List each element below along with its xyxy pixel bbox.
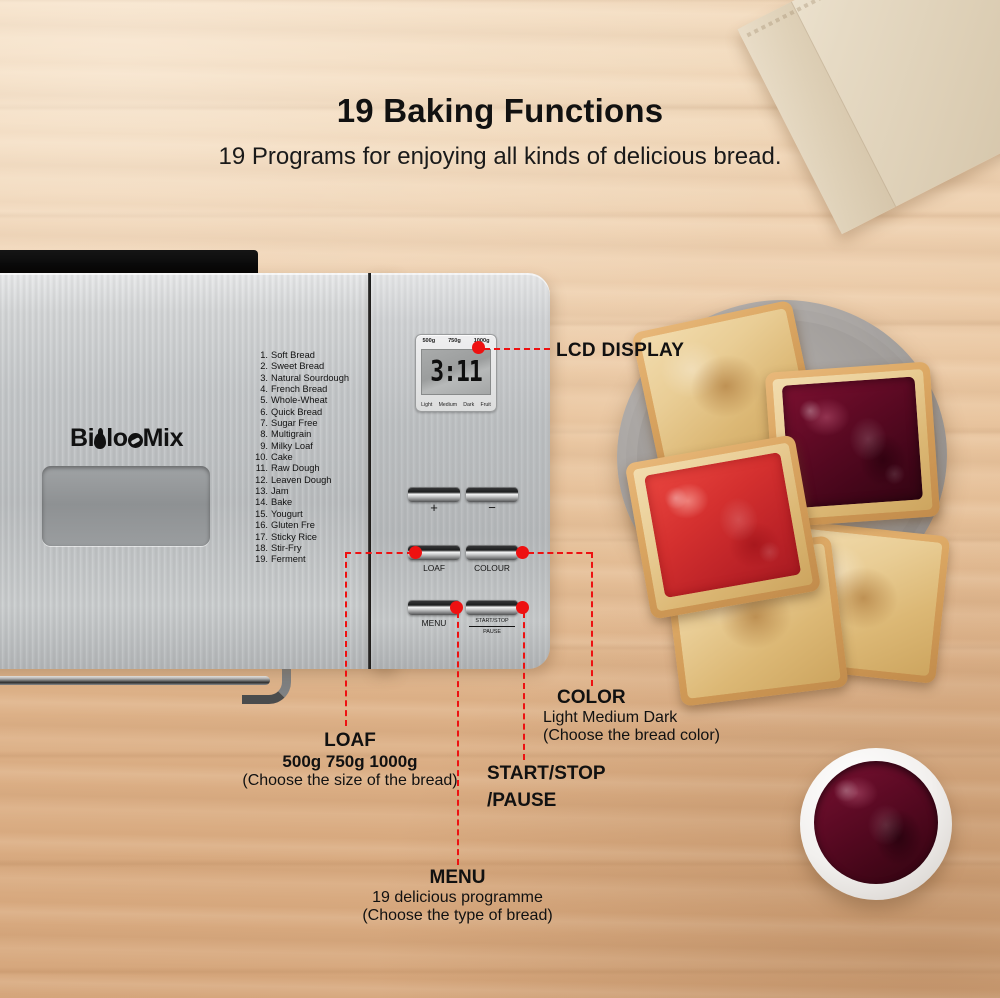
bowl-jam-contents (814, 761, 938, 884)
list-item: 8.Multigrain (251, 429, 381, 440)
list-item: 2.Sweet Bread (251, 361, 381, 372)
lcd-time-value: 3:11 (430, 356, 481, 389)
list-item: 11.Raw Dough (251, 463, 381, 474)
program-label: Natural Sourdough (271, 373, 349, 383)
program-number: 19. (251, 554, 268, 565)
lcd-color-light: Light (421, 402, 432, 408)
brand-text-before: Bi (70, 424, 94, 452)
toast-browning (670, 335, 781, 437)
colour-button[interactable] (466, 545, 518, 560)
list-item: 1.Soft Bread (251, 350, 381, 361)
callout-loaf-values: 500g 750g 1000g (220, 752, 480, 772)
program-label: Soft Bread (271, 350, 315, 360)
jam-sheen (644, 452, 801, 598)
plus-button-label: + (408, 503, 460, 512)
jam-sheen (814, 761, 938, 884)
program-number: 13. (251, 486, 268, 497)
program-number: 18. (251, 543, 268, 554)
program-label: Quick Bread (271, 407, 322, 417)
jam-bowl (800, 748, 952, 900)
list-item: 6.Quick Bread (251, 407, 381, 418)
program-number: 5. (251, 395, 268, 406)
strawberry-jam-spread (644, 452, 801, 598)
program-number: 11. (251, 463, 268, 474)
program-number: 8. (251, 429, 268, 440)
leader-line-loaf-h (345, 552, 413, 554)
flame-drop-icon (94, 433, 106, 449)
program-number: 6. (251, 407, 268, 418)
toast-slice-strawberry-jam (625, 434, 822, 619)
brand-text-mid: lo (106, 424, 127, 452)
lcd-screen: 3:11 (421, 349, 491, 395)
program-label: Bake (271, 497, 292, 507)
program-label: Milky Loaf (271, 441, 313, 451)
leaf-icon (128, 433, 143, 448)
loaf-button-label: LOAF (408, 563, 460, 573)
lcd-color-fruit: Fruit (480, 402, 490, 408)
program-label: Ferment (271, 554, 306, 564)
program-label: Yougurt (271, 509, 303, 519)
menu-button-label: MENU (408, 618, 460, 628)
program-label: Leaven Dough (271, 475, 331, 485)
callout-startstop-line2: /PAUSE (487, 790, 707, 812)
program-number: 17. (251, 532, 268, 543)
leader-line-colour-h (528, 552, 592, 554)
startstop-text: START/STOP (475, 618, 508, 624)
brand-text-after: Mix (143, 424, 183, 452)
list-item: 5.Whole-Wheat (251, 395, 381, 406)
list-item: 16.Gluten Fre (251, 520, 381, 531)
start-stop-pause-button-label: START/STOP PAUSE (463, 617, 521, 636)
callout-menu-values: 19 delicious programme (330, 889, 585, 907)
label-divider (469, 626, 515, 627)
list-item: 3.Natural Sourdough (251, 373, 381, 384)
list-item: 12.Leaven Dough (251, 475, 381, 486)
colour-button-label: COLOUR (466, 563, 518, 573)
list-item: 7.Sugar Free (251, 418, 381, 429)
list-item: 19.Ferment (251, 554, 381, 565)
lcd-color-medium: Medium (439, 402, 457, 408)
program-number: 15. (251, 509, 268, 520)
program-number: 10. (251, 452, 268, 463)
list-item: 14.Bake (251, 497, 381, 508)
callout-loaf-title: LOAF (220, 730, 480, 752)
program-number: 2. (251, 361, 268, 372)
program-number: 3. (251, 373, 268, 384)
infographic-canvas: 19 Baking Functions 19 Programs for enjo… (0, 0, 1000, 998)
program-number: 14. (251, 497, 268, 508)
program-label: Sticky Rice (271, 532, 317, 542)
callout-menu: MENU 19 delicious programme (Choose the … (330, 867, 585, 925)
callout-loaf-note: (Choose the size of the bread) (220, 772, 480, 790)
program-number: 4. (251, 384, 268, 395)
callout-startstop: START/STOP /PAUSE (487, 763, 707, 812)
program-label: French Bread (271, 384, 327, 394)
program-label: Gluten Fre (271, 520, 315, 530)
minus-button-label: − (466, 503, 518, 512)
pause-text: PAUSE (483, 629, 501, 635)
page-title: 19 Baking Functions (0, 92, 1000, 130)
start-stop-pause-button[interactable] (466, 600, 518, 615)
leader-line-startstop-v (523, 612, 525, 760)
lcd-weight-500g: 500g (422, 338, 435, 344)
callout-color: COLOR Light Medium Dark (Choose the brea… (543, 687, 793, 745)
callout-loaf: LOAF 500g 750g 1000g (Choose the size of… (220, 730, 480, 790)
program-number: 1. (251, 350, 268, 361)
program-label: Sweet Bread (271, 361, 324, 371)
viewing-window (42, 466, 210, 546)
program-label: Raw Dough (271, 463, 320, 473)
lcd-weight-750g: 750g (448, 338, 461, 344)
program-number: 16. (251, 520, 268, 531)
program-number: 7. (251, 418, 268, 429)
brand-logo: BiloMix (70, 424, 183, 453)
list-item: 13.Jam (251, 486, 381, 497)
list-item: 15.Yougurt (251, 509, 381, 520)
program-label: Stir-Fry (271, 543, 301, 553)
program-number: 12. (251, 475, 268, 486)
callout-menu-note: (Choose the type of bread) (330, 907, 585, 925)
callout-color-values: Light Medium Dark (543, 709, 793, 727)
callout-lcd-display: LCD DISPLAY (556, 340, 684, 362)
program-label: Sugar Free (271, 418, 318, 428)
handle-bar (0, 676, 270, 685)
callout-color-note: (Choose the bread color) (543, 727, 793, 745)
list-item: 17.Sticky Rice (251, 532, 381, 543)
program-label: Multigrain (271, 429, 311, 439)
lcd-color-dark: Dark (463, 402, 474, 408)
program-number: 9. (251, 441, 268, 452)
leader-line-lcd (484, 348, 550, 350)
callout-startstop-line1: START/STOP (487, 763, 707, 785)
leader-line-colour-v (591, 552, 593, 686)
program-label: Cake (271, 452, 293, 462)
list-item: 9.Milky Loaf (251, 441, 381, 452)
callout-menu-title: MENU (330, 867, 585, 889)
lcd-color-labels: Light Medium Dark Fruit (418, 402, 494, 408)
leader-line-menu-v (457, 612, 459, 865)
program-label: Whole-Wheat (271, 395, 327, 405)
program-list: 1.Soft Bread 2.Sweet Bread 3.Natural Sou… (251, 350, 381, 566)
list-item: 10.Cake (251, 452, 381, 463)
leader-line-loaf-v (345, 552, 347, 726)
list-item: 4.French Bread (251, 384, 381, 395)
callout-color-title: COLOR (543, 687, 793, 709)
page-subtitle: 19 Programs for enjoying all kinds of de… (0, 143, 1000, 171)
program-label: Jam (271, 486, 289, 496)
